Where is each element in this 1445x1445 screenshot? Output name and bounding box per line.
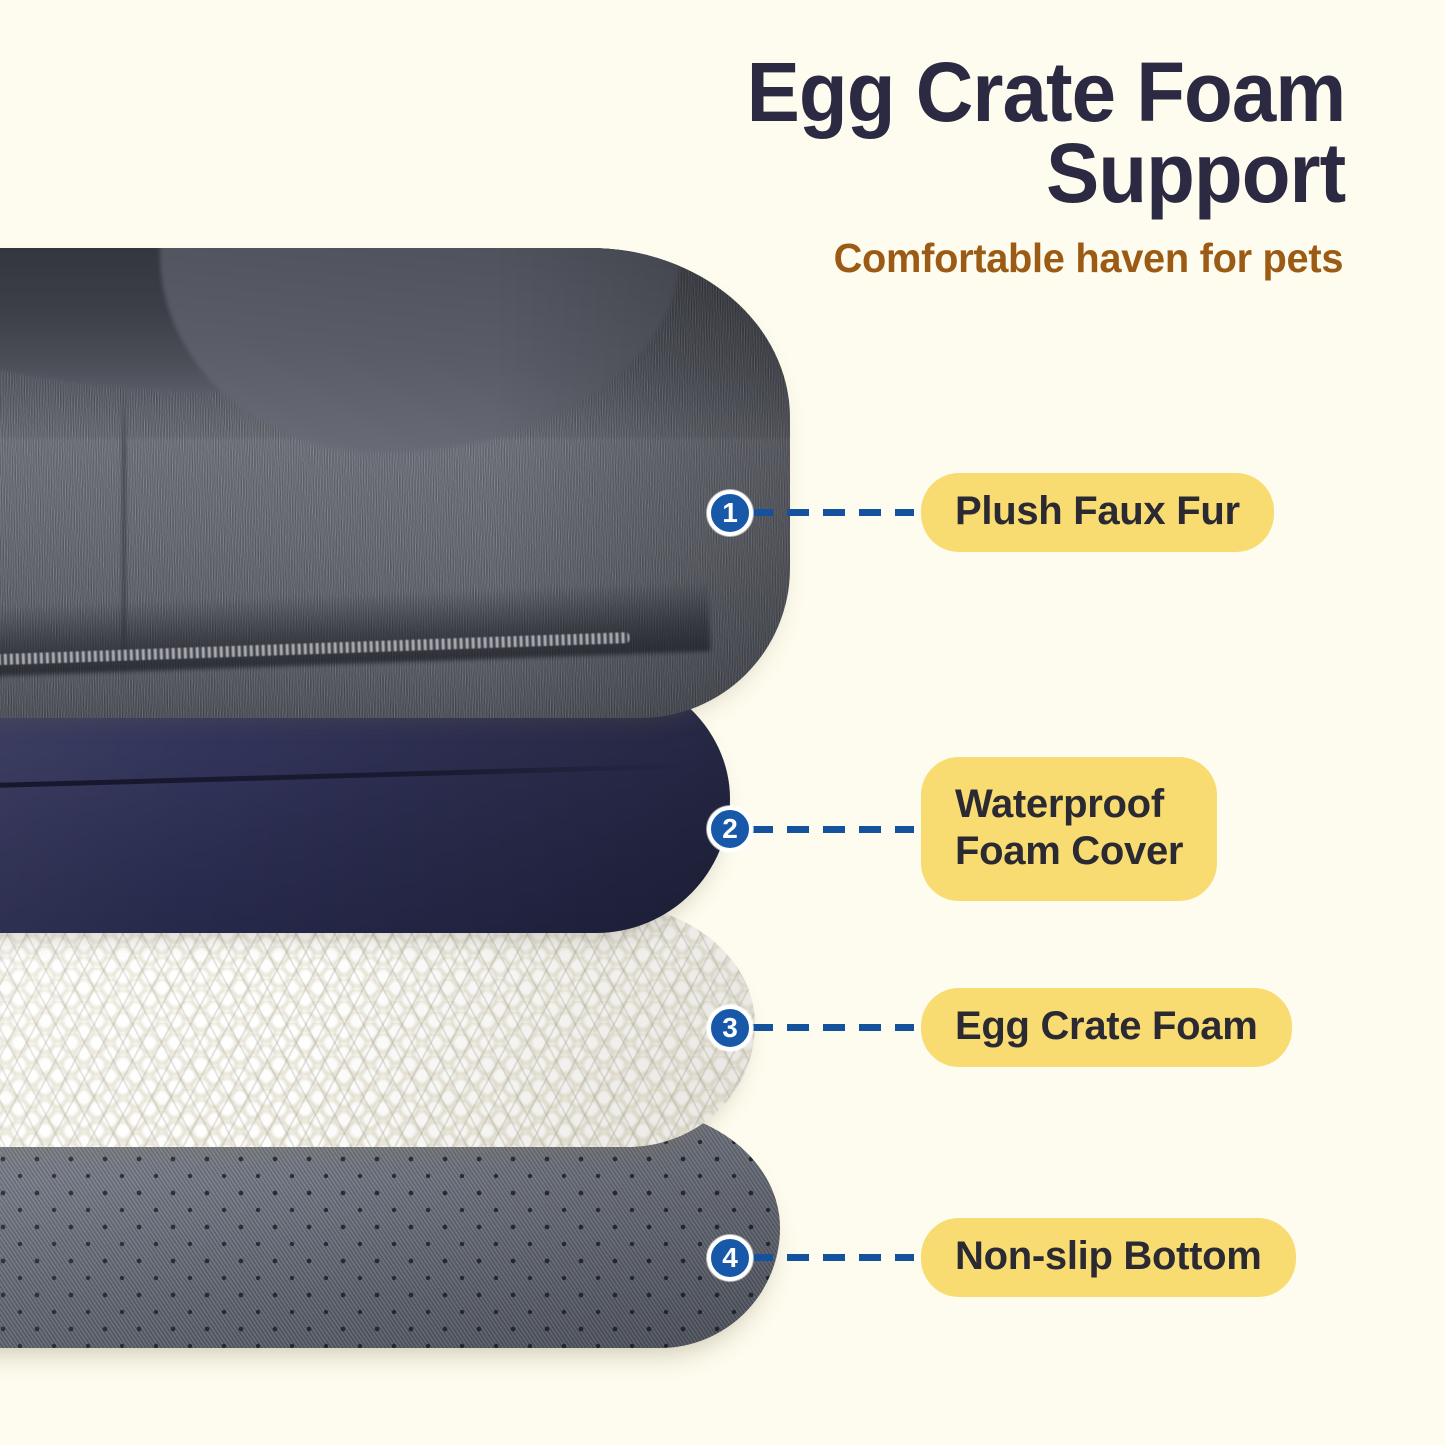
page-title: Egg Crate Foam Support <box>72 52 1445 213</box>
callout-non-slip-bottom: 4 Non-slip Bottom <box>707 1218 1296 1297</box>
callout-badge-2: 2 <box>707 806 753 852</box>
product-layer-egg-crate-foam <box>0 902 755 1147</box>
callout-label-1: Plush Faux Fur <box>921 473 1274 552</box>
callout-waterproof-foam-cover: 2 Waterproof Foam Cover <box>707 757 1217 901</box>
callout-label-2-line-2: Foam Cover <box>955 828 1183 875</box>
callout-label-1-line-1: Plush Faux Fur <box>955 489 1240 534</box>
callout-connector-line-4 <box>751 1254 914 1261</box>
callout-label-3: Egg Crate Foam <box>921 988 1292 1067</box>
page-subtitle: Comfortable haven for pets <box>43 235 1445 282</box>
callout-label-4: Non-slip Bottom <box>921 1218 1296 1297</box>
callout-label-2: Waterproof Foam Cover <box>921 757 1217 901</box>
callout-badge-1: 1 <box>707 490 753 536</box>
infographic-canvas: Egg Crate Foam Support Comfortable haven… <box>0 0 1445 1445</box>
callout-label-4-line-1: Non-slip Bottom <box>955 1234 1262 1279</box>
callout-connector-line-1 <box>751 509 914 516</box>
callout-badge-4: 4 <box>707 1235 753 1281</box>
callout-label-2-line-1: Waterproof <box>955 781 1183 828</box>
header: Egg Crate Foam Support Comfortable haven… <box>0 0 1445 282</box>
callout-egg-crate-foam: 3 Egg Crate Foam <box>707 988 1292 1067</box>
callout-connector-line-2 <box>751 826 914 833</box>
title-line-2: Support <box>72 133 1345 214</box>
callout-badge-3: 3 <box>707 1005 753 1051</box>
callout-plush-faux-fur: 1 Plush Faux Fur <box>707 473 1274 552</box>
callout-label-3-line-1: Egg Crate Foam <box>955 1004 1258 1049</box>
callout-connector-line-3 <box>751 1024 914 1031</box>
title-line-1: Egg Crate Foam <box>747 45 1346 139</box>
